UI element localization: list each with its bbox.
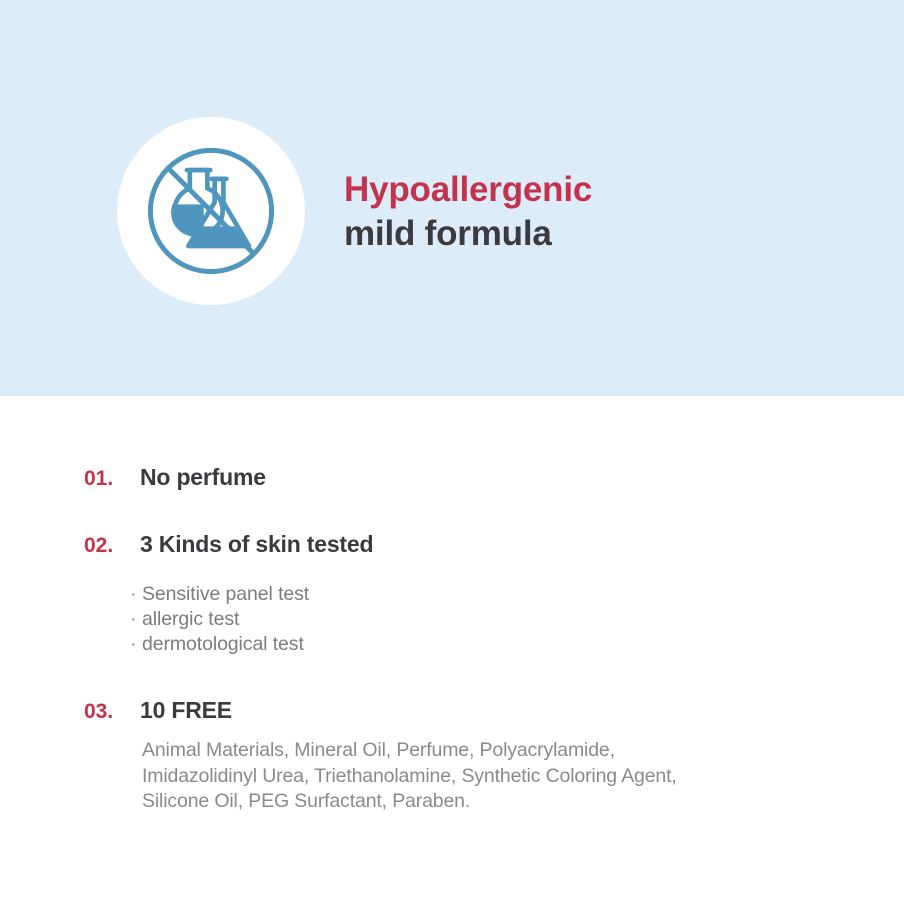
feature-label-03: 10 FREE	[140, 697, 232, 724]
hero-title: Hypoallergenic mild formula	[344, 168, 864, 256]
list-item: ·Sensitive panel test	[130, 582, 874, 607]
spacer-1	[84, 491, 874, 531]
feature-number-01: 01.	[84, 467, 140, 491]
list-item-label: allergic test	[142, 608, 239, 630]
feature-item-02: 02. 3 Kinds of skin tested ·Sensitive pa…	[84, 531, 874, 657]
spacer-4	[84, 724, 874, 738]
feature-head-02: 02. 3 Kinds of skin tested	[84, 531, 874, 558]
list-item-label: dermotological test	[142, 633, 304, 655]
features-list: 01. No perfume 02. 3 Kinds of skin teste…	[84, 464, 874, 815]
feature-number-02: 02.	[84, 534, 140, 558]
no-chemicals-icon	[138, 138, 284, 284]
feature-item-03: 03. 10 FREE Animal Materials, Mineral Oi…	[84, 697, 874, 815]
feature-label-01: No perfume	[140, 464, 266, 491]
feature-number-03: 03.	[84, 700, 140, 724]
hero-title-line1: Hypoallergenic	[344, 168, 864, 212]
paragraph-line: Silicone Oil, PEG Surfactant, Paraben.	[142, 789, 862, 815]
feature-label-02: 3 Kinds of skin tested	[140, 531, 373, 558]
hero-title-line2: mild formula	[344, 212, 864, 256]
paragraph-line: Imidazolidinyl Urea, Triethanolamine, Sy…	[142, 764, 862, 790]
feature-head-01: 01. No perfume	[84, 464, 874, 491]
badge-circle	[117, 117, 305, 305]
hero-banner-inner: Hypoallergenic mild formula	[0, 0, 904, 396]
feature-item-01: 01. No perfume	[84, 464, 874, 491]
feature-head-03: 03. 10 FREE	[84, 697, 874, 724]
list-item: ·dermotological test	[130, 632, 874, 657]
bullet-dot-icon: ·	[130, 607, 142, 632]
bullet-dot-icon: ·	[130, 582, 142, 607]
feature-sublist-02: ·Sensitive panel test ·allergic test ·de…	[130, 582, 874, 657]
spacer-3	[84, 657, 874, 697]
feature-paragraph-03: Animal Materials, Mineral Oil, Perfume, …	[142, 738, 862, 815]
spacer-2	[84, 558, 874, 582]
features-section: 01. No perfume 02. 3 Kinds of skin teste…	[0, 396, 904, 903]
hero-banner: Hypoallergenic mild formula	[0, 0, 904, 396]
paragraph-line: Animal Materials, Mineral Oil, Perfume, …	[142, 738, 862, 764]
list-item: ·allergic test	[130, 607, 874, 632]
list-item-label: Sensitive panel test	[142, 583, 309, 605]
bullet-dot-icon: ·	[130, 632, 142, 657]
